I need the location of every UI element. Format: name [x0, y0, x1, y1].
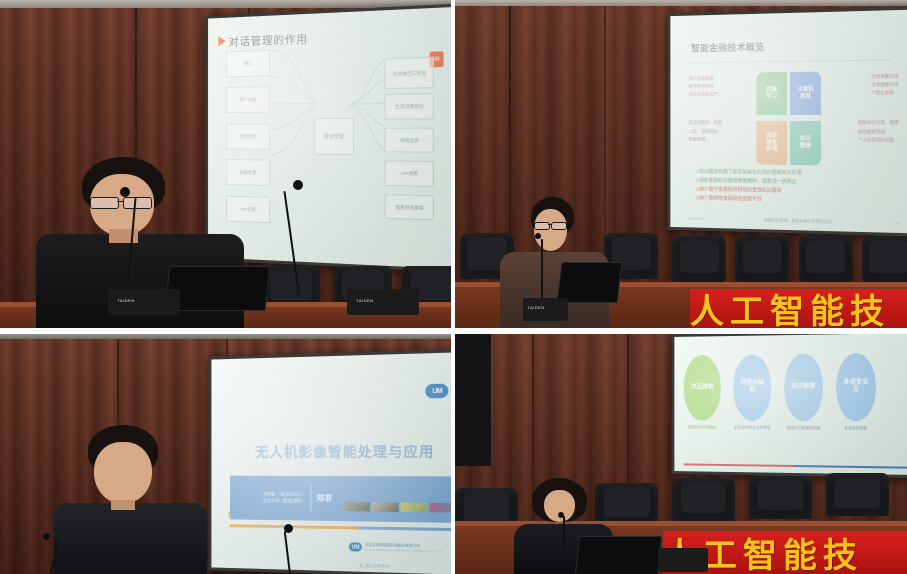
circle-caption-4: 多语言的问答: [831, 426, 882, 431]
laptop: [575, 536, 663, 574]
microphone-gooseneck: [541, 239, 543, 298]
collage-gutter-horizontal: [0, 328, 907, 334]
slide-quadrant: 智能金融技术概览 用户认知建模 股票市场预测 风险评估和资产… 交易单据识别 文…: [670, 10, 907, 234]
speaker-face: [94, 442, 152, 504]
glasses-icon: [551, 222, 567, 231]
mindmap-node-right-1: 任务执行工作流: [385, 57, 435, 89]
panel-top-left: 对话管理的作用 MI: [0, 0, 451, 328]
chair: [749, 476, 812, 519]
panel-bottom-right: 交互体验 问答对抽 取 知识图谱 多语言交 互 智能问答的准确性 长文本到短文本…: [455, 334, 907, 574]
bullets-top-right: 交易单据识别 文本图像识别 个性化营销…: [871, 72, 898, 98]
footer-page-number: 8: [896, 220, 898, 226]
slide-title-deck: UM 无人机影像智能处理与应用 天际航 （联合创始人） 武汉大学（教授/博导） …: [211, 352, 451, 574]
footer-title: 金融知识图谱：股权网络与系统性风险: [764, 217, 832, 225]
mic-brand-label: TAIDEN: [356, 298, 373, 303]
circle-qa-extraction: 问答对抽 取: [734, 354, 772, 420]
chair: [862, 236, 907, 282]
company-footer-logo: UM 武汉天际航信息科技股份有限公司 WUHAN TIANJIHANG INFO…: [349, 543, 442, 555]
mindmap-node-center: 对话管理: [315, 118, 354, 155]
bullets-top-left: 用户认知建模 股票市场预测 风险评估和资产…: [689, 74, 722, 99]
chair: [799, 236, 853, 282]
circle-interaction-experience: 交互体验: [684, 355, 722, 420]
circle-caption-2: 长文本到短文本的抽取: [729, 425, 777, 430]
microphone-head-icon: [558, 512, 564, 518]
accent-bar-blue: [359, 526, 451, 531]
photo-collage: 对话管理的作用 MI: [0, 0, 907, 574]
accent-bar-orange: [230, 524, 359, 529]
microphone-head-icon: [43, 533, 50, 540]
mindmap-node-right-3: 领域选择: [385, 127, 435, 152]
projection-screen-bottom-left: UM 无人机影像智能处理与应用 天际航 （联合创始人） 武汉大学（教授/博导） …: [209, 349, 451, 574]
glasses-icon: [90, 197, 119, 209]
projection-screen-top-right: 智能金融技术概览 用户认知建模 股票市场预测 风险评估和资产… 交易单据识别 文…: [667, 6, 907, 236]
banner-text: 人工智能技: [690, 289, 890, 328]
company-name-en: WUHAN TIANJIHANG INFORMATION TECHNOLOGY …: [365, 549, 442, 554]
slide-footer: 2019/1/5 金融知识图谱：股权网络与系统性风险 8: [689, 215, 899, 226]
slide-footer-caption: 第三期公开课/第4讲: [359, 562, 389, 568]
company-name-cn: 武汉天际航信息科技股份有限公司: [365, 543, 420, 548]
circle-caption-3: 领域知识图谱的构建: [779, 426, 828, 431]
mindmap-node-right-2: 生成澄清提问: [385, 94, 435, 120]
quadrant-cell-nlp: 自然 语言 处理: [756, 121, 787, 165]
panel-top-right: 智能金融技术概览 用户认知建模 股票市场预测 风险评估和资产… 交易单据识别 文…: [455, 0, 907, 328]
circle-caption-1: 智能问答的准确性: [679, 425, 726, 430]
glasses-icon: [534, 222, 550, 231]
microphone-head-icon: [284, 524, 293, 533]
slide-mindmap: 对话管理的作用 MI: [209, 7, 451, 269]
quadrant-cell-computer-vision: 计算机 视觉: [790, 71, 821, 115]
mic-brand-label: TAIDEN: [527, 305, 544, 310]
circle-knowledge-graph: 知识图谱: [784, 354, 823, 421]
accent-bar-red: [684, 463, 794, 467]
glasses-icon: [123, 197, 152, 209]
mindmap-node-left-3: 对话历史: [227, 123, 271, 149]
speaker-torso: [54, 503, 207, 574]
chair: [826, 473, 889, 516]
panel-bottom-left: UM 无人机影像智能处理与应用 天际航 （联合创始人） 武汉大学（教授/博导） …: [0, 334, 451, 574]
quadrant-cell-machine-learning: 机器 学习: [756, 71, 787, 115]
quadrant-diagram: 机器 学习 计算机 视觉 自然 语言 处理 知识 图谱: [756, 71, 821, 165]
slide-notes: ◇知识图谱构建了实现智能化应用的基础知识资源 ◇现有金融知识图谱数据稀缺，需要进…: [695, 168, 891, 206]
mic-brand-label: TAIDEN: [117, 298, 134, 303]
chair: [735, 236, 789, 282]
accent-bar-blue: [794, 465, 907, 469]
slide-circles: 交互体验 问答对抽 取 知识图谱 多语言交 互 智能问答的准确性 长文本到短文本…: [675, 334, 907, 475]
speaker-neck: [111, 500, 136, 510]
presenter-name: 邓非: [316, 493, 332, 504]
bullets-bottom-right: 金融知识问答、搜索 风险模式识别 个人信贷风险评估…: [858, 119, 899, 145]
mindmap-node-right-5: 情景对话跟踪: [385, 194, 435, 221]
quadrant-cell-knowledge-graph: 知识 图谱: [790, 121, 821, 165]
mindmap-node-right-4: API调用: [385, 161, 435, 187]
presenter-band: 天际航 （联合创始人） 武汉大学（教授/博导） 邓非: [230, 476, 451, 523]
mindmap-node-left-2: 用户信息: [227, 86, 271, 113]
footer-date: 2019/1/5: [689, 215, 704, 221]
slide-title: 智能金融技术概览: [691, 39, 764, 54]
bullets-bottom-left: 自动化服务、客服 公告、研报解读 智能客服…: [689, 119, 722, 144]
microphone-head-icon: [120, 187, 130, 197]
chair: [672, 236, 726, 282]
chair: [672, 478, 735, 521]
slide-thumbnails: [344, 502, 451, 512]
slide-title: 无人机影像智能处理与应用: [240, 441, 451, 462]
laptop: [165, 266, 271, 311]
speaker-person: [54, 425, 207, 574]
tianjihang-logo-icon: UM: [426, 384, 449, 399]
event-banner: 人工智能技: [690, 289, 907, 328]
presenter-affiliation: 天际航 （联合创始人） 武汉大学（教授/博导）: [263, 492, 306, 505]
microphone-base: [658, 548, 708, 572]
circle-multilingual: 多语言交 互: [836, 353, 876, 421]
collage-gutter-vertical: [451, 0, 455, 574]
company-mark-icon: UM: [349, 543, 362, 552]
mindmap-node-left-1: 语义: [227, 50, 271, 77]
projection-screen-bottom-right: 交互体验 问答对抽 取 知识图谱 多语言交 互 智能问答的准确性 长文本到短文本…: [672, 334, 907, 478]
